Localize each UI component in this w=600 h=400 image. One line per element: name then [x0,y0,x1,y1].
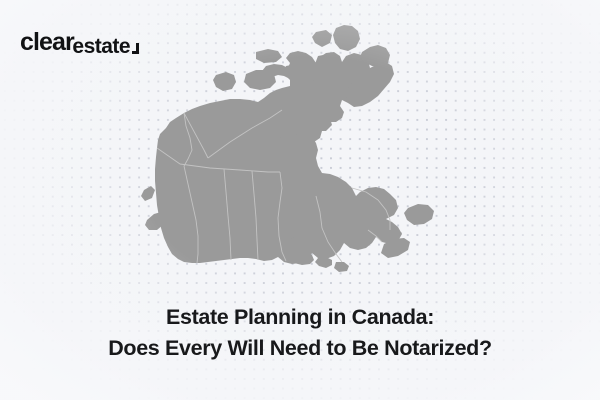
logo-word-estate: estate [72,36,130,57]
clearestate-logo[interactable]: clear estate [20,30,139,55]
logo-word-clear: clear [20,30,74,55]
headline-line-2: Does Every Will Need to Be Notarized? [0,333,600,364]
headline-line-1: Estate Planning in Canada: [0,302,600,333]
logo-corner-tick-icon [132,43,139,54]
blog-banner: clear estate Estate Planning in Canada: … [0,0,600,400]
canada-map-illustration [140,22,470,302]
banner-headline: Estate Planning in Canada: Does Every Wi… [0,302,600,363]
map-landmass [141,25,434,272]
